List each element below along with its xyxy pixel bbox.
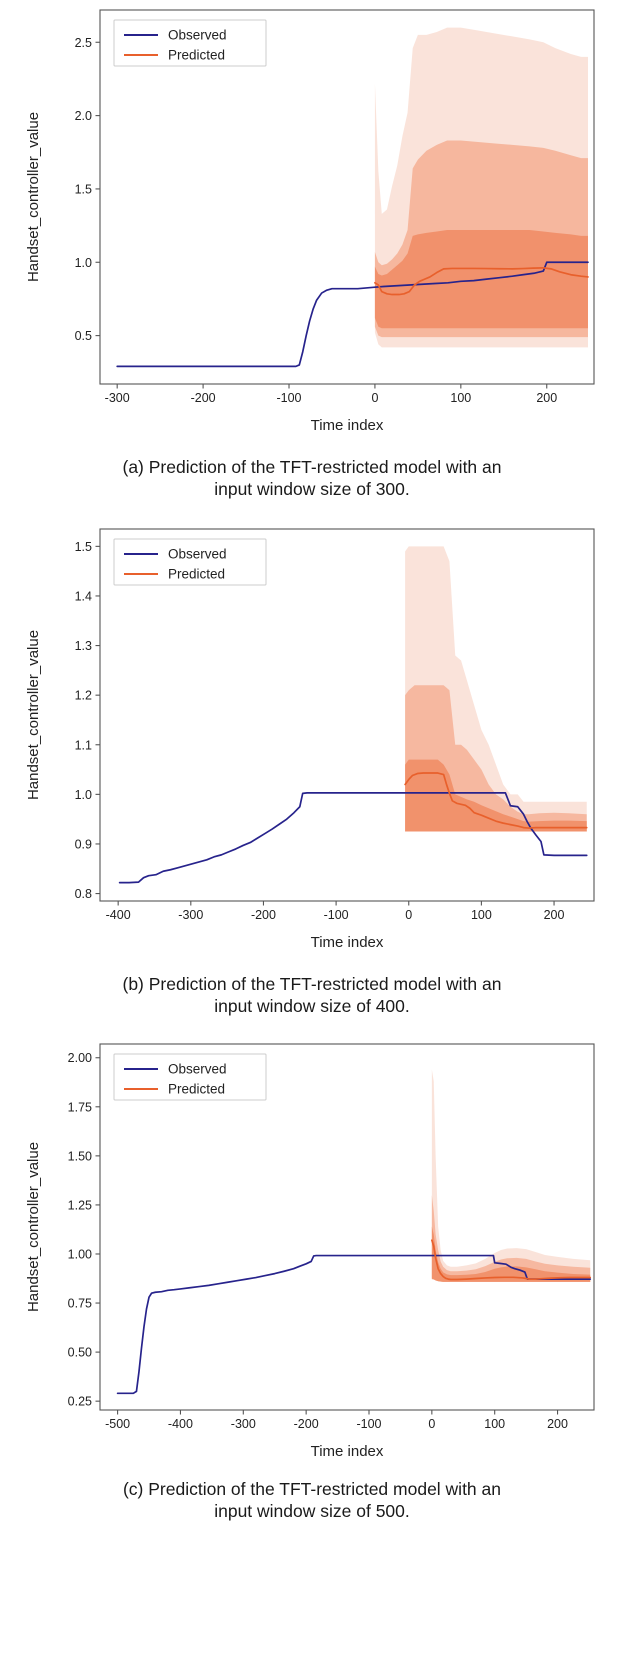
y-tick-label: 0.50 [68, 1345, 92, 1359]
y-tick-label: 1.5 [75, 540, 92, 554]
plot-wrap-a: -300-200-10001002000.51.01.52.02.5Time i… [0, 0, 624, 450]
y-tick-label: 0.8 [75, 887, 92, 901]
y-tick-label: 1.3 [75, 639, 92, 653]
x-tick-label: 0 [371, 391, 378, 405]
legend-label-observed: Observed [168, 28, 227, 43]
y-tick-label: 0.25 [68, 1394, 92, 1408]
caption-b: (b) Prediction of the TFT-restricted mod… [32, 973, 592, 1018]
y-tick-label: 1.25 [68, 1198, 92, 1212]
caption-a-line2: input window size of 300. [32, 478, 592, 500]
y-axis-title: Handset_controller_value [25, 630, 42, 800]
subfigure-a: -300-200-10001002000.51.01.52.02.5Time i… [0, 0, 624, 515]
y-tick-label: 2.00 [68, 1051, 92, 1065]
x-tick-label: -200 [251, 908, 276, 922]
caption-b-line1: (b) Prediction of the TFT-restricted mod… [32, 973, 592, 995]
chart-a: -300-200-10001002000.51.01.52.02.5Time i… [12, 0, 612, 450]
x-tick-label: -100 [324, 908, 349, 922]
x-tick-label: -100 [356, 1417, 381, 1431]
x-tick-label: -200 [294, 1417, 319, 1431]
y-tick-label: 1.75 [68, 1100, 92, 1114]
legend-label-predicted: Predicted [168, 48, 225, 63]
y-tick-label: 1.4 [75, 589, 92, 603]
caption-a-line1: (a) Prediction of the TFT-restricted mod… [32, 456, 592, 478]
caption-b-line2: input window size of 400. [32, 995, 592, 1017]
legend-label-observed: Observed [168, 546, 227, 561]
x-tick-label: 100 [450, 391, 471, 405]
x-tick-label: 200 [536, 391, 557, 405]
y-axis-title: Handset_controller_value [25, 112, 42, 282]
y-tick-label: 2.0 [75, 109, 92, 123]
legend: ObservedPredicted [114, 539, 266, 585]
chart-b: -400-300-200-10001002000.80.91.01.11.21.… [12, 515, 612, 967]
x-axis-title: Time index [311, 417, 384, 434]
legend-label-predicted: Predicted [168, 566, 225, 581]
x-tick-label: -500 [105, 1417, 130, 1431]
figure-page: -300-200-10001002000.51.01.52.02.5Time i… [0, 0, 624, 1536]
caption-c-line2: input window size of 500. [32, 1500, 592, 1522]
y-tick-label: 0.5 [75, 329, 92, 343]
x-axis-title: Time index [311, 934, 384, 951]
x-tick-label: -100 [276, 391, 301, 405]
x-tick-label: -200 [191, 391, 216, 405]
chart-c: -500-400-300-200-10001002000.250.500.751… [12, 1032, 612, 1472]
y-axis-title: Handset_controller_value [25, 1142, 42, 1312]
x-tick-label: -300 [105, 391, 130, 405]
x-tick-label: -400 [168, 1417, 193, 1431]
caption-c: (c) Prediction of the TFT-restricted mod… [32, 1478, 592, 1523]
x-tick-label: 0 [405, 908, 412, 922]
plot-wrap-c: -500-400-300-200-10001002000.250.500.751… [0, 1032, 624, 1472]
x-tick-label: 100 [484, 1417, 505, 1431]
y-tick-label: 1.5 [75, 182, 92, 196]
caption-c-line1: (c) Prediction of the TFT-restricted mod… [32, 1478, 592, 1500]
y-tick-label: 1.0 [75, 788, 92, 802]
x-axis-title: Time index [311, 1443, 384, 1460]
subfigure-b: -400-300-200-10001002000.80.91.01.11.21.… [0, 515, 624, 1032]
y-tick-label: 0.75 [68, 1296, 92, 1310]
x-tick-label: -300 [178, 908, 203, 922]
legend-label-predicted: Predicted [168, 1081, 225, 1096]
y-tick-label: 1.0 [75, 256, 92, 270]
x-tick-label: 100 [471, 908, 492, 922]
x-tick-label: 0 [428, 1417, 435, 1431]
y-tick-label: 1.00 [68, 1247, 92, 1261]
subfigure-c: -500-400-300-200-10001002000.250.500.751… [0, 1032, 624, 1537]
y-tick-label: 1.2 [75, 688, 92, 702]
legend: ObservedPredicted [114, 20, 266, 66]
y-tick-label: 2.5 [75, 36, 92, 50]
x-tick-label: 200 [544, 908, 565, 922]
caption-a: (a) Prediction of the TFT-restricted mod… [32, 456, 592, 501]
legend-label-observed: Observed [168, 1061, 227, 1076]
plot-wrap-b: -400-300-200-10001002000.80.91.01.11.21.… [0, 515, 624, 967]
y-tick-label: 0.9 [75, 837, 92, 851]
y-tick-label: 1.50 [68, 1149, 92, 1163]
x-tick-label: 200 [547, 1417, 568, 1431]
x-tick-label: -300 [231, 1417, 256, 1431]
x-tick-label: -400 [106, 908, 131, 922]
legend: ObservedPredicted [114, 1054, 266, 1100]
y-tick-label: 1.1 [75, 738, 92, 752]
